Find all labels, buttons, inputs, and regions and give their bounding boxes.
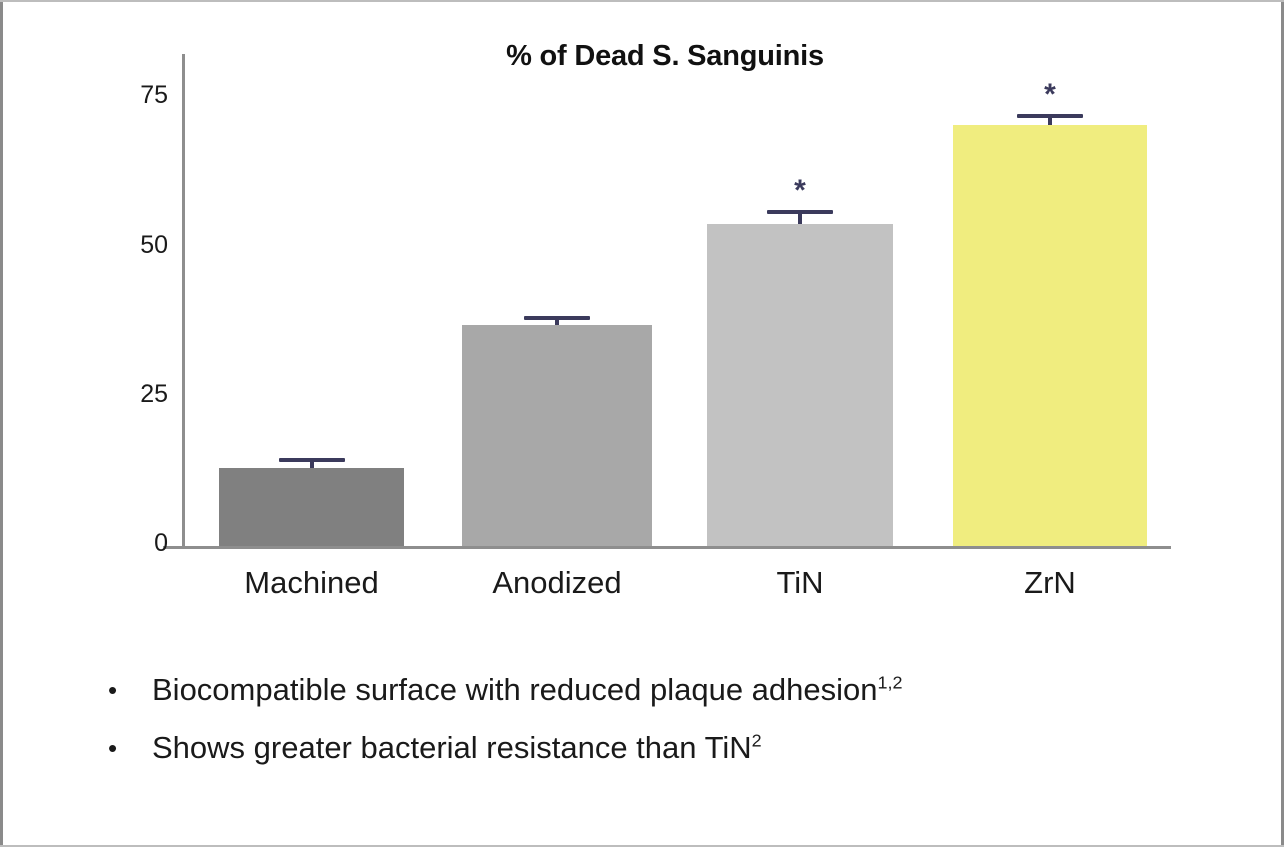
bar-rect-anodized bbox=[462, 325, 652, 546]
error-bar-anodized bbox=[524, 316, 590, 325]
bullet-citation-superscript: 2 bbox=[752, 731, 762, 751]
error-bar-zrn bbox=[1017, 114, 1083, 125]
error-bar-machined bbox=[279, 458, 345, 469]
bullet-item: •Biocompatible surface with reduced plaq… bbox=[108, 668, 1188, 712]
bar-machined[interactable] bbox=[219, 468, 404, 546]
plot-area: ** bbox=[0, 0, 1284, 640]
bullet-marker-icon: • bbox=[108, 668, 152, 712]
bar-rect-tin bbox=[707, 224, 893, 546]
slide-canvas: % of Dead S. Sanguinis 0255075 ** Machin… bbox=[0, 0, 1284, 847]
bullet-citation-superscript: 1,2 bbox=[878, 673, 903, 693]
significance-star-zrn: * bbox=[1044, 80, 1056, 110]
error-bar-stem bbox=[555, 316, 559, 325]
category-label-zrn: ZrN bbox=[953, 565, 1147, 601]
bar-rect-zrn bbox=[953, 125, 1147, 546]
error-bar-stem bbox=[1048, 114, 1052, 125]
error-bar-stem bbox=[310, 458, 314, 469]
bar-chart: % of Dead S. Sanguinis 0255075 ** Machin… bbox=[0, 0, 1284, 640]
bullet-text: Biocompatible surface with reduced plaqu… bbox=[152, 668, 903, 712]
category-label-machined: Machined bbox=[219, 565, 404, 601]
bullet-marker-icon: • bbox=[108, 726, 152, 770]
category-label-tin: TiN bbox=[707, 565, 893, 601]
bullet-text: Shows greater bacterial resistance than … bbox=[152, 726, 762, 770]
significance-star-tin: * bbox=[794, 176, 806, 206]
error-bar-tin bbox=[767, 210, 833, 223]
bullet-list: •Biocompatible surface with reduced plaq… bbox=[108, 668, 1188, 784]
category-label-anodized: Anodized bbox=[462, 565, 652, 601]
bar-rect-machined bbox=[219, 468, 404, 546]
bar-anodized[interactable] bbox=[462, 325, 652, 546]
bar-tin[interactable] bbox=[707, 224, 893, 546]
error-bar-stem bbox=[798, 210, 802, 223]
bullet-item: •Shows greater bacterial resistance than… bbox=[108, 726, 1188, 770]
bar-zrn[interactable] bbox=[953, 125, 1147, 546]
